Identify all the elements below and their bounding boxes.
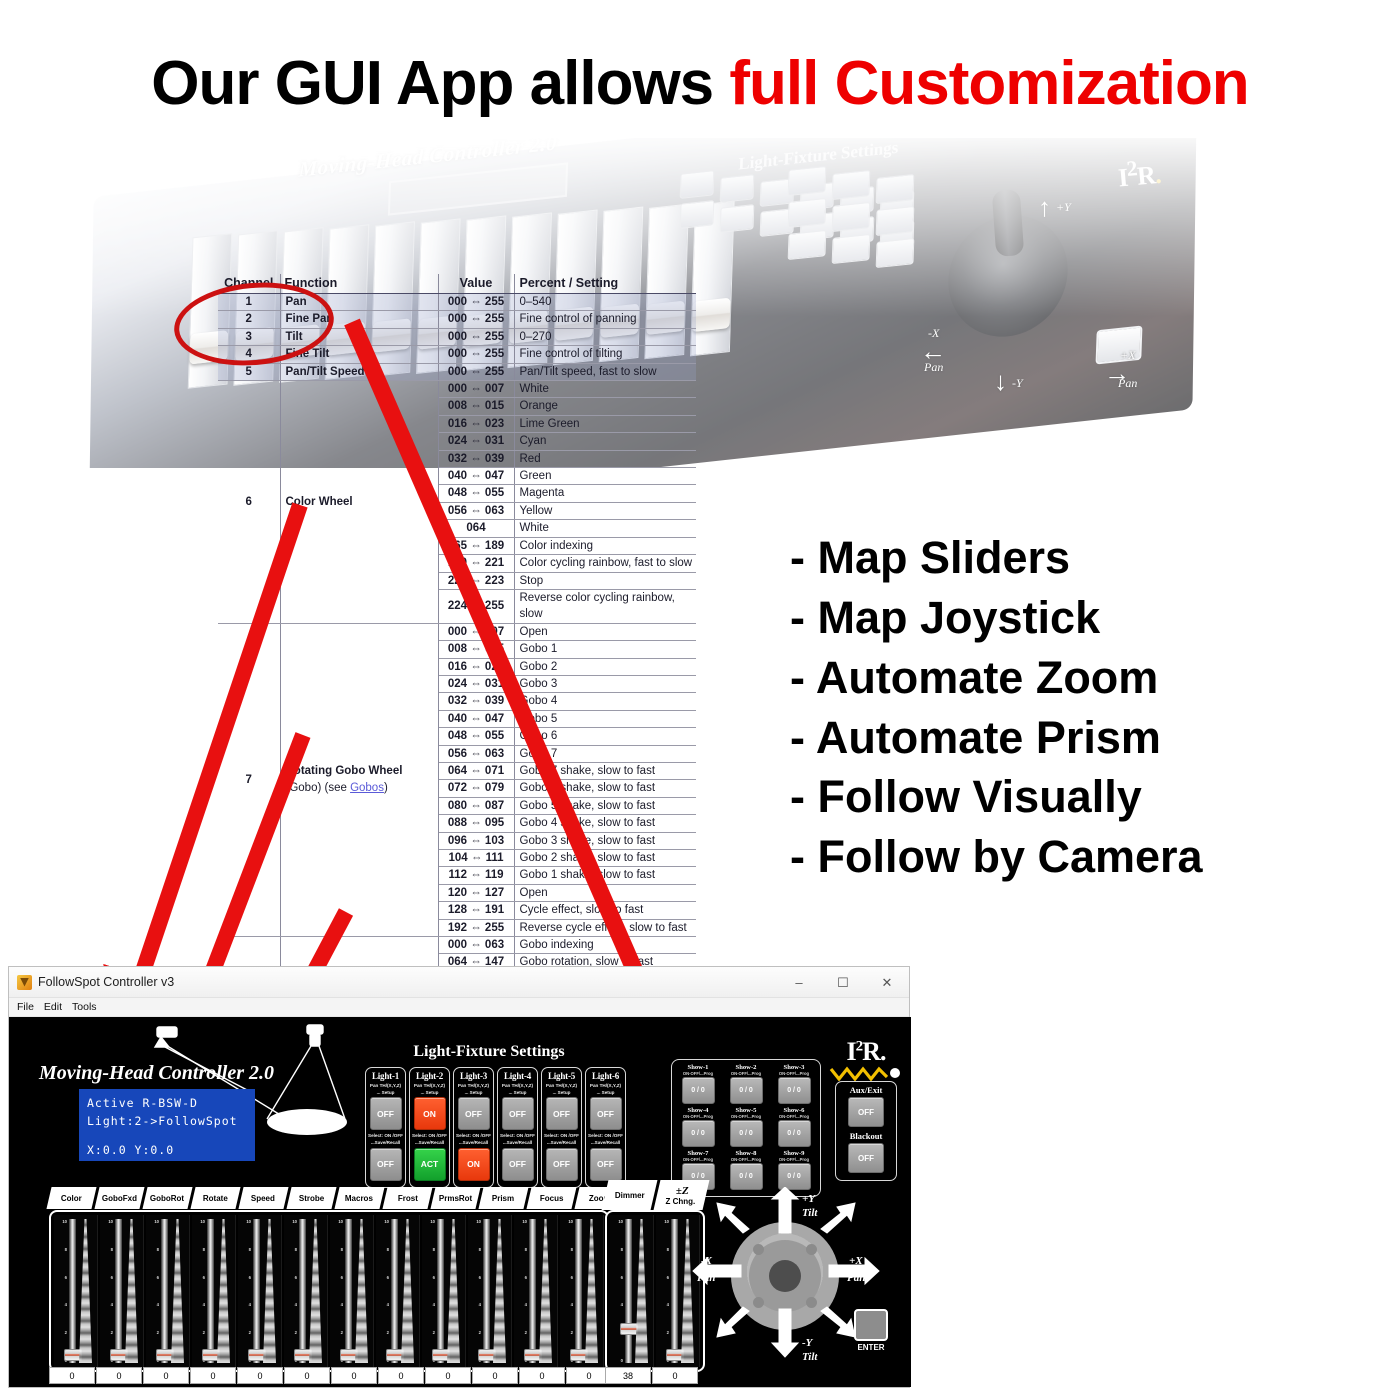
scale-tick: 8 <box>380 1247 389 1252</box>
slider-tab-macros[interactable]: Macros <box>334 1187 384 1209</box>
feature-list-item: - Follow Visually <box>790 767 1390 827</box>
fixture-name: Light-1 <box>368 1071 403 1081</box>
fixture-select-button[interactable]: OFF <box>502 1148 534 1181</box>
slider-tab-strobe[interactable]: Strobe <box>286 1187 336 1209</box>
slider-tab-goborot[interactable]: GoboRot <box>142 1187 192 1209</box>
scale-tick: 2 <box>150 1330 159 1335</box>
dmx-cell-setting: 0–270 <box>514 328 696 345</box>
slider-scale: 1086420 <box>196 1219 205 1363</box>
slider-value: 0 <box>190 1367 236 1384</box>
lcd-display: Active R-BSW-D Light:2->FollowSpot X:0.0… <box>79 1089 255 1161</box>
dmx-table-row: 7Rotating Gobo Wheel(Gobo) (see Gobos)00… <box>218 623 696 640</box>
photo-button-pad <box>720 174 755 203</box>
brand-zigzag-icon <box>827 1065 905 1081</box>
dmx-cell-setting: Pan/Tilt speed, fast to slow <box>514 363 696 380</box>
dmx-cell-value: 064 <box>438 520 514 537</box>
slider-tab-color[interactable]: Color <box>46 1187 96 1209</box>
feature-list-item: - Automate Prism <box>790 708 1390 768</box>
show-name: Show-6 <box>771 1107 817 1114</box>
slider-tab-prmsrot[interactable]: PrmsRot <box>430 1187 480 1209</box>
scale-tick: 8 <box>150 1247 159 1252</box>
slider-ribbon <box>125 1219 138 1363</box>
scale-tick: 4 <box>104 1302 113 1307</box>
dmx-cell-value: 190 ⇔ 221 <box>438 555 514 572</box>
slider-tab-frost[interactable]: Frost <box>382 1187 432 1209</box>
dmx-cell-setting: Gobo 4 <box>514 693 696 710</box>
scale-tick: 2 <box>380 1330 389 1335</box>
slider-track[interactable] <box>161 1219 168 1363</box>
slider-scale: 1086420 <box>58 1219 67 1363</box>
enter-button[interactable] <box>854 1309 888 1341</box>
aux-button[interactable]: OFF <box>848 1143 884 1173</box>
show-panel: Show-1ON-OFF/...Prog0 / 0Show-2ON-OFF/..… <box>671 1059 821 1197</box>
fixture-setup-caption: Pan TH/(X,Y,Z)... Setup <box>500 1083 535 1096</box>
show-caption: ON-OFF/...Prog <box>675 1114 721 1119</box>
slider-tab-label: Strobe <box>299 1194 324 1203</box>
app-window: FollowSpot Controller v3 – ☐ ✕ File Edit… <box>8 966 910 1388</box>
dmx-cell-setting: Stop <box>514 572 696 589</box>
slider-value: 0 <box>143 1367 189 1384</box>
dmx-cell-setting: Orange <box>514 398 696 415</box>
slider-slot[interactable]: 1086420 <box>54 1215 98 1367</box>
slider-ribbon <box>79 1219 92 1363</box>
fixture-setup-button[interactable]: OFF <box>502 1097 534 1130</box>
dmx-cell-setting: Gobo 1 shake, slow to fast <box>514 867 696 884</box>
menu-item-tools[interactable]: Tools <box>72 1001 97 1013</box>
dimmer-scale: 1086420 <box>660 1219 669 1363</box>
slider-slot[interactable]: 1086420 <box>376 1215 420 1367</box>
slider-track[interactable] <box>575 1219 582 1363</box>
fixture-select-button[interactable]: OFF <box>370 1148 402 1181</box>
scale-tick: 2 <box>288 1330 297 1335</box>
dmx-cell-value: 048 ⇔ 055 <box>438 485 514 502</box>
fixture-setup-button[interactable]: OFF <box>458 1097 490 1130</box>
slider-track[interactable] <box>253 1219 260 1363</box>
enter-control[interactable]: ENTER <box>854 1309 888 1352</box>
slider-scale: 1086420 <box>472 1219 481 1363</box>
slider-scale: 1086420 <box>426 1219 435 1363</box>
scale-tick: 4 <box>334 1302 343 1307</box>
page-title: Our GUI App allows full Customization <box>0 48 1400 119</box>
dmx-cell-value: 096 ⇔ 103 <box>438 832 514 849</box>
slider-tab-label: GoboFxd <box>102 1194 137 1203</box>
slider-tabs: ColorGoboFxdGoboRotRotateSpeedStrobeMacr… <box>49 1187 625 1209</box>
scale-tick: 4 <box>58 1302 67 1307</box>
scale-tick: 6 <box>150 1275 159 1280</box>
slider-tab-label: Color <box>61 1194 82 1203</box>
joystick-label-down: -Y <box>802 1337 812 1349</box>
photo-button-pad <box>720 204 755 233</box>
show-button[interactable]: 0 / 0 <box>730 1077 763 1104</box>
fixture-select-caption: Select: ON /OFF...Save/Recall <box>500 1133 535 1146</box>
feature-list-item: - Follow by Camera <box>790 827 1390 887</box>
dimmer-tab-label: Dimmer <box>615 1191 645 1200</box>
scale-tick: 4 <box>518 1302 527 1307</box>
dmx-table-body: 1Pan000 ⇔ 2550–5402Fine Pan000 ⇔ 255Fine… <box>218 294 696 1023</box>
slider-scale: 1086420 <box>288 1219 297 1363</box>
slider-value: 0 <box>96 1367 142 1384</box>
scale-tick: 2 <box>334 1330 343 1335</box>
fixture-column-light-1: Light-1Pan TH/(X,Y,Z)... SetupOFFSelect:… <box>365 1067 406 1188</box>
dmx-cell-value: 056 ⇔ 063 <box>438 745 514 762</box>
lcd-line-1: Active R-BSW-D <box>87 1095 247 1113</box>
page-title-red: full Customization <box>729 49 1248 118</box>
scale-tick: 10 <box>564 1219 573 1224</box>
fixture-select-caption: Select: ON /OFF...Save/Recall <box>412 1133 447 1146</box>
show-caption: ON-OFF/...Prog <box>771 1071 817 1076</box>
scale-tick: 8 <box>242 1247 251 1252</box>
slider-tab-focus[interactable]: Focus <box>526 1187 576 1209</box>
fixture-setup-caption: Pan TH/(X,Y,Z)... Setup <box>412 1083 447 1096</box>
slider-slot[interactable]: 1086420 <box>330 1215 374 1367</box>
fixture-column-light-6: Light-6Pan TH/(X,Y,Z)... SetupOFFSelect:… <box>585 1067 626 1188</box>
dmx-cell-setting: White <box>514 381 696 398</box>
menu-item-edit[interactable]: Edit <box>44 1001 62 1013</box>
scale-tick: 6 <box>660 1275 669 1280</box>
scale-tick: 10 <box>660 1219 669 1224</box>
slider-value: 0 <box>49 1367 95 1384</box>
panel-brand: Moving-Head Controller 2.0 <box>39 1062 274 1085</box>
show-cell: Show-8ON-OFF/...Prog0 / 0 <box>723 1150 769 1192</box>
slider-track[interactable] <box>391 1219 398 1363</box>
controller-panel: Moving-Head Controller 2.0 Active R-BSW-… <box>9 1017 911 1387</box>
dmx-cell-value: 000 ⇔ 063 <box>438 937 514 954</box>
show-cell: Show-1ON-OFF/...Prog0 / 0 <box>675 1064 721 1106</box>
scale-tick: 2 <box>426 1330 435 1335</box>
show-cell: Show-9ON-OFF/...Prog0 / 0 <box>771 1150 817 1192</box>
minimize-button[interactable]: – <box>777 967 821 998</box>
slider-track[interactable] <box>115 1219 122 1363</box>
fixture-panel-title: Light-Fixture Settings <box>364 1043 614 1061</box>
dimmer-thumb[interactable] <box>620 1323 638 1335</box>
fixture-columns: Light-1Pan TH/(X,Y,Z)... SetupOFFSelect:… <box>365 1067 626 1188</box>
scale-tick: 10 <box>334 1219 343 1224</box>
scale-tick: 10 <box>242 1219 251 1224</box>
scale-tick: 2 <box>196 1330 205 1335</box>
dmx-cell-setting: Fine control of panning <box>514 311 696 328</box>
app-logo-icon <box>17 975 32 990</box>
close-button[interactable]: ✕ <box>865 967 909 998</box>
dmx-cell-value: 048 ⇔ 055 <box>438 728 514 745</box>
fixture-setup-button[interactable]: OFF <box>546 1097 578 1130</box>
slider-tab-label: GoboRot <box>150 1194 184 1203</box>
show-button[interactable]: 0 / 0 <box>778 1163 811 1190</box>
scale-tick: 2 <box>564 1330 573 1335</box>
photo-show-pad <box>832 170 871 200</box>
photo-show-pad <box>832 234 871 264</box>
show-button[interactable]: 0 / 0 <box>778 1077 811 1104</box>
fixture-name: Light-3 <box>456 1071 491 1081</box>
dmx-cell-setting: Gobo 4 shake, slow to fast <box>514 815 696 832</box>
dmx-cell-setting: White <box>514 520 696 537</box>
show-caption: ON-OFF/...Prog <box>675 1071 721 1076</box>
arrow-down-right-icon <box>821 1307 855 1337</box>
show-button[interactable]: 0 / 0 <box>730 1163 763 1190</box>
dmx-cell-value: 000 ⇔ 255 <box>438 328 514 345</box>
photo-show-pad <box>788 198 827 228</box>
slider-value: 0 <box>519 1367 565 1384</box>
scale-tick: 6 <box>288 1275 297 1280</box>
slider-track[interactable] <box>299 1219 306 1363</box>
dmx-cell-value: 032 ⇔ 039 <box>438 693 514 710</box>
slider-slot[interactable]: 1086420 <box>284 1215 328 1367</box>
dmx-cell-value: 072 ⇔ 079 <box>438 780 514 797</box>
slider-ribbon <box>355 1219 368 1363</box>
slider-tab-prism[interactable]: Prism <box>478 1187 528 1209</box>
dmx-cell-function: Color Wheel <box>280 381 438 624</box>
joystick-label-right-pan: Pan <box>847 1272 865 1284</box>
arrow-down-left-icon <box>717 1307 749 1337</box>
dmx-cell-setting: Gobo 3 <box>514 675 696 692</box>
scale-tick: 6 <box>58 1275 67 1280</box>
show-button[interactable]: 0 / 0 <box>682 1120 715 1147</box>
dmx-cell-value: 064 ⇔ 071 <box>438 762 514 779</box>
maximize-button[interactable]: ☐ <box>821 967 865 998</box>
dmx-cell-setting: Reverse color cycling rainbow, slow <box>514 589 696 623</box>
slider-tab-label: PrmsRot <box>439 1194 472 1203</box>
dmx-cell-setting: Fine control of tilting <box>514 346 696 363</box>
scale-tick: 10 <box>288 1219 297 1224</box>
fixture-select-button[interactable]: OFF <box>590 1148 622 1181</box>
dimmer-ribbon <box>635 1219 648 1363</box>
slider-slot[interactable]: 1086420 <box>514 1215 558 1367</box>
dmx-cell-function: Rotating Gobo Wheel(Gobo) (see Gobos) <box>280 623 438 936</box>
slider-ribbon <box>309 1219 322 1363</box>
dmx-cell-value: 024 ⇔ 031 <box>438 433 514 450</box>
photo-show-pad <box>876 206 915 236</box>
slider-tab-label: Macros <box>345 1194 373 1203</box>
dmx-cell-setting: Yellow <box>514 502 696 519</box>
slider-ribbon <box>493 1219 506 1363</box>
fixture-select-button[interactable]: OFF <box>546 1148 578 1181</box>
slider-slot[interactable]: 1086420 <box>146 1215 190 1367</box>
scale-tick: 8 <box>426 1247 435 1252</box>
fixture-select-caption: Select: ON /OFF...Save/Recall <box>544 1133 579 1146</box>
dmx-cell-value: 056 ⇔ 063 <box>438 502 514 519</box>
show-name: Show-2 <box>723 1064 769 1071</box>
aux-blackout-panel: Aux/ExitOFFBlackoutOFF <box>835 1081 897 1181</box>
dmx-cell-value: 000 ⇔ 255 <box>438 311 514 328</box>
fixture-name: Light-4 <box>500 1071 535 1081</box>
show-button[interactable]: 0 / 0 <box>730 1120 763 1147</box>
fixture-setup-button[interactable]: ON <box>414 1097 446 1130</box>
fixture-setup-button[interactable]: OFF <box>590 1097 622 1130</box>
scale-tick: 4 <box>472 1302 481 1307</box>
slider-tab-label: Focus <box>540 1194 564 1203</box>
scale-tick: 8 <box>614 1247 623 1252</box>
slider-ribbon <box>263 1219 276 1363</box>
brand-logo: I2R. <box>827 1039 905 1086</box>
show-caption: ON-OFF/...Prog <box>675 1157 721 1162</box>
dmx-cell-setting: Gobo 5 <box>514 710 696 727</box>
slider-slot[interactable]: 1086420 <box>422 1215 466 1367</box>
show-cell: Show-5ON-OFF/...Prog0 / 0 <box>723 1107 769 1149</box>
scale-tick: 2 <box>472 1330 481 1335</box>
scale-tick: 2 <box>518 1330 527 1335</box>
show-cell: Show-6ON-OFF/...Prog0 / 0 <box>771 1107 817 1149</box>
scale-tick: 4 <box>614 1302 623 1307</box>
slider-slot[interactable]: 1086420 <box>468 1215 512 1367</box>
dmx-cell-value: 222 ⇔ 223 <box>438 572 514 589</box>
slider-tab-gobofxd[interactable]: GoboFxd <box>94 1187 144 1209</box>
show-name: Show-1 <box>675 1064 721 1071</box>
dmx-cell-setting: Open <box>514 884 696 901</box>
lcd-line-2: Light:2->FollowSpot <box>87 1113 247 1131</box>
dmx-cell-value: 024 ⇔ 031 <box>438 675 514 692</box>
show-caption: ON-OFF/...Prog <box>723 1157 769 1162</box>
slider-tab-label: Speed <box>251 1194 275 1203</box>
show-cell: Show-2ON-OFF/...Prog0 / 0 <box>723 1064 769 1106</box>
dmx-cell-setting: Gobo 2 shake, slow to fast <box>514 850 696 867</box>
fixture-select-caption: Select: ON /OFF...Save/Recall <box>368 1133 403 1146</box>
slider-ribbon <box>217 1219 230 1363</box>
dmx-cell-setting: Gobo 2 <box>514 658 696 675</box>
dimmer-track[interactable] <box>625 1219 632 1363</box>
dimmer-value: 38 <box>605 1367 651 1384</box>
dmx-cell-setting: Gobo 7 shake, slow to fast <box>514 762 696 779</box>
fixture-name: Light-2 <box>412 1071 447 1081</box>
show-grid: Show-1ON-OFF/...Prog0 / 0Show-2ON-OFF/..… <box>675 1064 817 1192</box>
dmx-table-row: 6Color Wheel000 ⇔ 007White <box>218 381 696 398</box>
dmx-cell-value: 080 ⇔ 087 <box>438 797 514 814</box>
fixture-select-button[interactable]: ON <box>458 1148 490 1181</box>
dmx-cell-channel: 6 <box>218 381 280 624</box>
slider-value: 0 <box>472 1367 518 1384</box>
slider-ribbon <box>585 1219 598 1363</box>
scale-tick: 2 <box>104 1330 113 1335</box>
fixture-setup-caption: Pan TH/(X,Y,Z)... Setup <box>588 1083 623 1096</box>
dmx-cell-value: 000 ⇔ 255 <box>438 363 514 380</box>
dmx-cell-value: 016 ⇔ 023 <box>438 658 514 675</box>
scale-tick: 10 <box>518 1219 527 1224</box>
fixture-setup-caption: Pan TH/(X,Y,Z)... Setup <box>456 1083 491 1096</box>
dmx-cell-value: 008 ⇔ 015 <box>438 398 514 415</box>
dmx-cell-value: 065 ⇔ 189 <box>438 537 514 554</box>
slider-scale: 1086420 <box>150 1219 159 1363</box>
scale-tick: 6 <box>242 1275 251 1280</box>
dmx-cell-setting: Cyan <box>514 433 696 450</box>
dmx-cell-setting: Gobo 7 <box>514 745 696 762</box>
scale-tick: 10 <box>380 1219 389 1224</box>
fixture-column-light-5: Light-5Pan TH/(X,Y,Z)... SetupOFFSelect:… <box>541 1067 582 1188</box>
show-button[interactable]: 0 / 0 <box>778 1120 811 1147</box>
fixture-setup-caption: Pan TH/(X,Y,Z)... Setup <box>544 1083 579 1096</box>
slider-scale: 1086420 <box>518 1219 527 1363</box>
slider-ribbon <box>401 1219 414 1363</box>
dmx-table: Channel Function Value Percent / Setting… <box>218 274 696 1023</box>
slider-scale: 1086420 <box>564 1219 573 1363</box>
fixture-setup-caption: Pan TH/(X,Y,Z)... Setup <box>368 1083 403 1096</box>
slider-tab-rotate[interactable]: Rotate <box>190 1187 240 1209</box>
scale-tick: 8 <box>196 1247 205 1252</box>
dmx-cell-value: 000 ⇔ 255 <box>438 346 514 363</box>
dmx-cell-value: 000 ⇔ 255 <box>438 294 514 311</box>
show-button[interactable]: 0 / 0 <box>682 1077 715 1104</box>
slider-track[interactable] <box>207 1219 214 1363</box>
slider-scale: 1086420 <box>104 1219 113 1363</box>
scale-tick: 8 <box>288 1247 297 1252</box>
scale-tick: 8 <box>472 1247 481 1252</box>
aux-button[interactable]: OFF <box>848 1097 884 1127</box>
dmx-cell-value: 104 ⇔ 111 <box>438 850 514 867</box>
slide-canvas: Our GUI App allows full Customization Mo… <box>0 0 1400 1400</box>
dmx-cell-value: 032 ⇔ 039 <box>438 450 514 467</box>
aux-label: Blackout <box>839 1131 893 1141</box>
joystick-label-left-pan: Pan <box>697 1272 715 1284</box>
joystick-label-down-tilt: Tilt <box>802 1351 817 1363</box>
scale-tick: 10 <box>196 1219 205 1224</box>
slider-slot[interactable]: 1086420 <box>192 1215 236 1367</box>
slider-track[interactable] <box>529 1219 536 1363</box>
show-caption: ON-OFF/...Prog <box>723 1114 769 1119</box>
scale-tick: 0 <box>614 1358 623 1363</box>
slider-track[interactable] <box>345 1219 352 1363</box>
arrow-up-right-icon <box>821 1203 855 1233</box>
scale-tick: 6 <box>518 1275 527 1280</box>
show-name: Show-3 <box>771 1064 817 1071</box>
scale-tick: 8 <box>334 1247 343 1252</box>
scale-tick: 6 <box>472 1275 481 1280</box>
fixture-column-light-3: Light-3Pan TH/(X,Y,Z)... SetupOFFSelect:… <box>453 1067 494 1188</box>
fixture-select-button[interactable]: ACT <box>414 1148 446 1181</box>
show-cell: Show-3ON-OFF/...Prog0 / 0 <box>771 1064 817 1106</box>
slider-slot[interactable]: 1086420 <box>100 1215 144 1367</box>
slider-ribbon <box>539 1219 552 1363</box>
slider-value: 0 <box>237 1367 283 1384</box>
show-cell: Show-4ON-OFF/...Prog0 / 0 <box>675 1107 721 1149</box>
dmx-header-setting: Percent / Setting <box>514 274 696 294</box>
slider-tab-label: Rotate <box>203 1194 228 1203</box>
slider-track[interactable] <box>483 1219 490 1363</box>
scale-tick: 6 <box>614 1275 623 1280</box>
scale-tick: 2 <box>242 1330 251 1335</box>
scale-tick: 10 <box>104 1219 113 1224</box>
dmx-cell-setting: Red <box>514 450 696 467</box>
joystick-label-up: +Y <box>802 1193 815 1205</box>
lcd-line-3: X:0.0 Y:0.0 <box>87 1142 247 1160</box>
aux-label: Aux/Exit <box>839 1085 893 1095</box>
slider-track[interactable] <box>69 1219 76 1363</box>
fixture-setup-button[interactable]: OFF <box>370 1097 402 1130</box>
slider-tab-speed[interactable]: Speed <box>238 1187 288 1209</box>
arrow-up-left-icon <box>717 1203 749 1233</box>
dmx-cell-channel: 7 <box>218 623 280 936</box>
feature-list: - Map Sliders- Map Joystick- Automate Zo… <box>790 528 1390 887</box>
dimmer-slot[interactable]: 1086420 <box>610 1215 654 1367</box>
dmx-cell-value: 224 ⇔ 255 <box>438 589 514 623</box>
show-caption: ON-OFF/...Prog <box>723 1071 769 1076</box>
menu-item-file[interactable]: File <box>17 1001 34 1013</box>
dmx-cell-value: 016 ⇔ 023 <box>438 415 514 432</box>
dmx-cell-setting: Cycle effect, slow to fast <box>514 902 696 919</box>
slider-track[interactable] <box>437 1219 444 1363</box>
dmx-cell-setting: Color cycling rainbow, fast to slow <box>514 555 696 572</box>
brand-logo-text: I2R. <box>827 1039 905 1065</box>
slider-slot[interactable]: 1086420 <box>238 1215 282 1367</box>
slider-ribbon <box>171 1219 184 1363</box>
feature-list-item: - Map Sliders <box>790 528 1390 588</box>
dmx-cell-setting: Gobo 1 <box>514 641 696 658</box>
dmx-table-row: 5Pan/Tilt Speed000 ⇔ 255Pan/Tilt speed, … <box>218 363 696 380</box>
scale-tick: 6 <box>196 1275 205 1280</box>
slider-slot[interactable]: 1086420 <box>560 1215 604 1367</box>
dimmer-tab[interactable]: Dimmer <box>602 1180 658 1210</box>
scale-tick: 10 <box>426 1219 435 1224</box>
scale-tick: 4 <box>564 1302 573 1307</box>
feature-list-item: - Map Joystick <box>790 588 1390 648</box>
dmx-table-row: Gobo Rotation000 ⇔ 063Gobo indexing <box>218 937 696 954</box>
dmx-cell-value: 008 ⇔ 015 <box>438 641 514 658</box>
